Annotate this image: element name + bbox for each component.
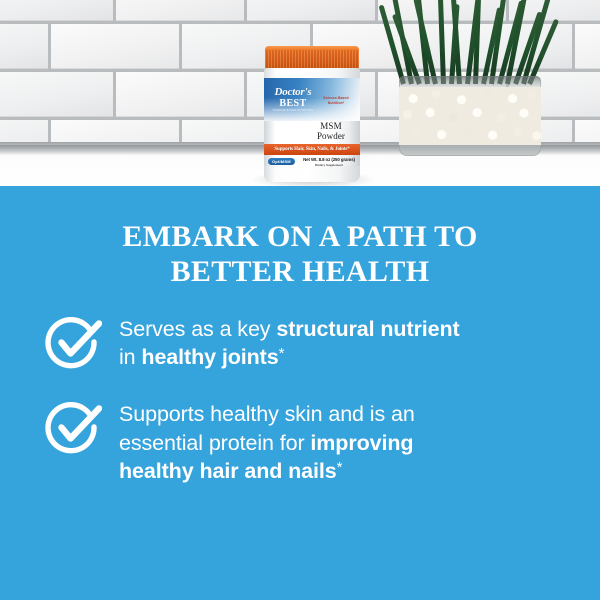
benefits-list: Serves as a key structural nutrient in h… — [0, 311, 600, 486]
potted-plant — [393, 0, 553, 162]
bullet-2-line3-bold: healthy hair and nails — [119, 459, 337, 483]
product-marketing-image: Doctor's BEST SCIENCE-BASED NUTRITION Sc… — [0, 0, 600, 600]
bullet-1-line1-bold: structural nutrient — [276, 317, 459, 341]
benefits-panel: EMBARK ON A PATH TO BETTER HEALTH Serves… — [0, 186, 600, 600]
brand-name-line2: BEST — [270, 99, 316, 109]
brand-name-line1: Doctor's — [270, 87, 316, 98]
brand-logo: Doctor's BEST SCIENCE-BASED NUTRITION — [270, 87, 316, 113]
bullet-2-line2-bold: improving — [310, 431, 413, 455]
headline-line-1: EMBARK ON A PATH TO — [122, 220, 477, 253]
product-name: MSM Powder — [305, 122, 357, 141]
brand-tagline: SCIENCE-BASED NUTRITION — [270, 110, 316, 113]
check-circle-icon — [44, 313, 102, 371]
product-name-line2: Powder — [305, 132, 357, 142]
glass-vase — [399, 76, 541, 156]
bullet-2-asterisk: * — [337, 459, 343, 476]
bullet-1-asterisk: * — [279, 345, 285, 362]
headline-line-2: BETTER HEALTH — [171, 255, 430, 288]
bullet-2-line2-plain: essential protein for — [119, 431, 310, 455]
bullet-2-line1-plain: Supports healthy skin and is an — [119, 402, 415, 426]
list-item: Serves as a key structural nutrient in h… — [0, 311, 600, 372]
check-circle-icon — [44, 398, 102, 456]
science-claim: Science-Based Nutrition* — [316, 96, 356, 105]
page-title: EMBARK ON A PATH TO BETTER HEALTH — [0, 186, 600, 290]
product-label: Doctor's BEST SCIENCE-BASED NUTRITION Sc… — [264, 78, 360, 166]
product-photo: Doctor's BEST SCIENCE-BASED NUTRITION Sc… — [0, 0, 600, 186]
white-pebbles — [399, 87, 541, 145]
jar-body: Doctor's BEST SCIENCE-BASED NUTRITION Sc… — [264, 68, 360, 182]
bullet-1-line2-plain: in — [119, 345, 141, 369]
list-item-label: Serves as a key structural nutrient in h… — [119, 311, 460, 372]
label-support-band: Supports Hair, Skin, Nails, & Joints* — [264, 144, 360, 155]
jar-lid-top — [265, 46, 359, 50]
list-item-label: Supports healthy skin and is an essentia… — [119, 396, 415, 486]
net-weight: Net Wt. 8.8 oz (250 grams) — [301, 157, 357, 162]
dietary-supplement-label: Dietary Supplement — [301, 163, 357, 167]
bullet-1-line2-bold: healthy joints — [141, 345, 278, 369]
list-item: Supports healthy skin and is an essentia… — [0, 396, 600, 486]
product-jar: Doctor's BEST SCIENCE-BASED NUTRITION Sc… — [264, 46, 360, 186]
bullet-1-line1-plain: Serves as a key — [119, 317, 276, 341]
optimsm-badge: OptiMSM — [268, 158, 295, 165]
